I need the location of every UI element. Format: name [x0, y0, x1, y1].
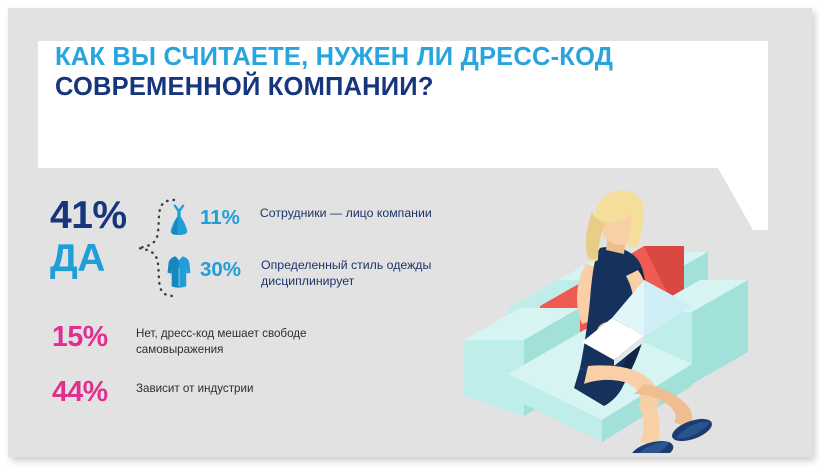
breakdown-percent-coat: 30%: [200, 258, 241, 282]
result-percent-44: 44%: [52, 378, 136, 407]
infographic-canvas: КАК ВЫ СЧИТАЕТЕ, НУЖЕН ЛИ ДРЕСС-КОД СОВР…: [8, 8, 812, 457]
result-percent-15: 15%: [52, 323, 136, 352]
result-text-15: Нет, дресс-код мешает свободе самовыраже…: [136, 326, 366, 359]
infographic-root: КАК ВЫ СЧИТАЕТЕ, НУЖЕН ЛИ ДРЕСС-КОД СОВР…: [0, 0, 820, 469]
title-line-1: КАК ВЫ СЧИТАЕТЕ, НУЖЕН ЛИ ДРЕСС-КОД: [55, 42, 613, 72]
breakdown-percent-dress: 11%: [200, 206, 240, 230]
result-text-44: Зависит от индустрии: [136, 381, 366, 397]
result-row-44: 44% Зависит от индустрии: [52, 378, 366, 407]
breakdown-row-dress: 11% Сотрудники — лицо компании: [166, 202, 435, 237]
title-line-2: СОВРЕМЕННОЙ КОМПАНИИ?: [55, 72, 613, 102]
breakdown-text-coat: Определенный стиль одежды дисциплинирует: [261, 257, 436, 290]
page-title: КАК ВЫ СЧИТАЕТЕ, НУЖЕН ЛИ ДРЕСС-КОД СОВР…: [55, 42, 613, 102]
result-row-15: 15% Нет, дресс-код мешает свободе самовы…: [52, 323, 366, 359]
yes-summary: 41% ДА: [50, 196, 140, 284]
woman-with-laptop-illustration: [448, 188, 778, 453]
breakdown-row-coat: 30% Определенный стиль одежды дисциплини…: [166, 254, 436, 290]
coat-icon: [166, 255, 192, 289]
dress-icon: [166, 203, 192, 237]
breakdown-text-dress: Сотрудники — лицо компании: [260, 205, 435, 221]
yes-label: ДА: [50, 235, 140, 284]
yes-percent: 41%: [50, 196, 140, 235]
